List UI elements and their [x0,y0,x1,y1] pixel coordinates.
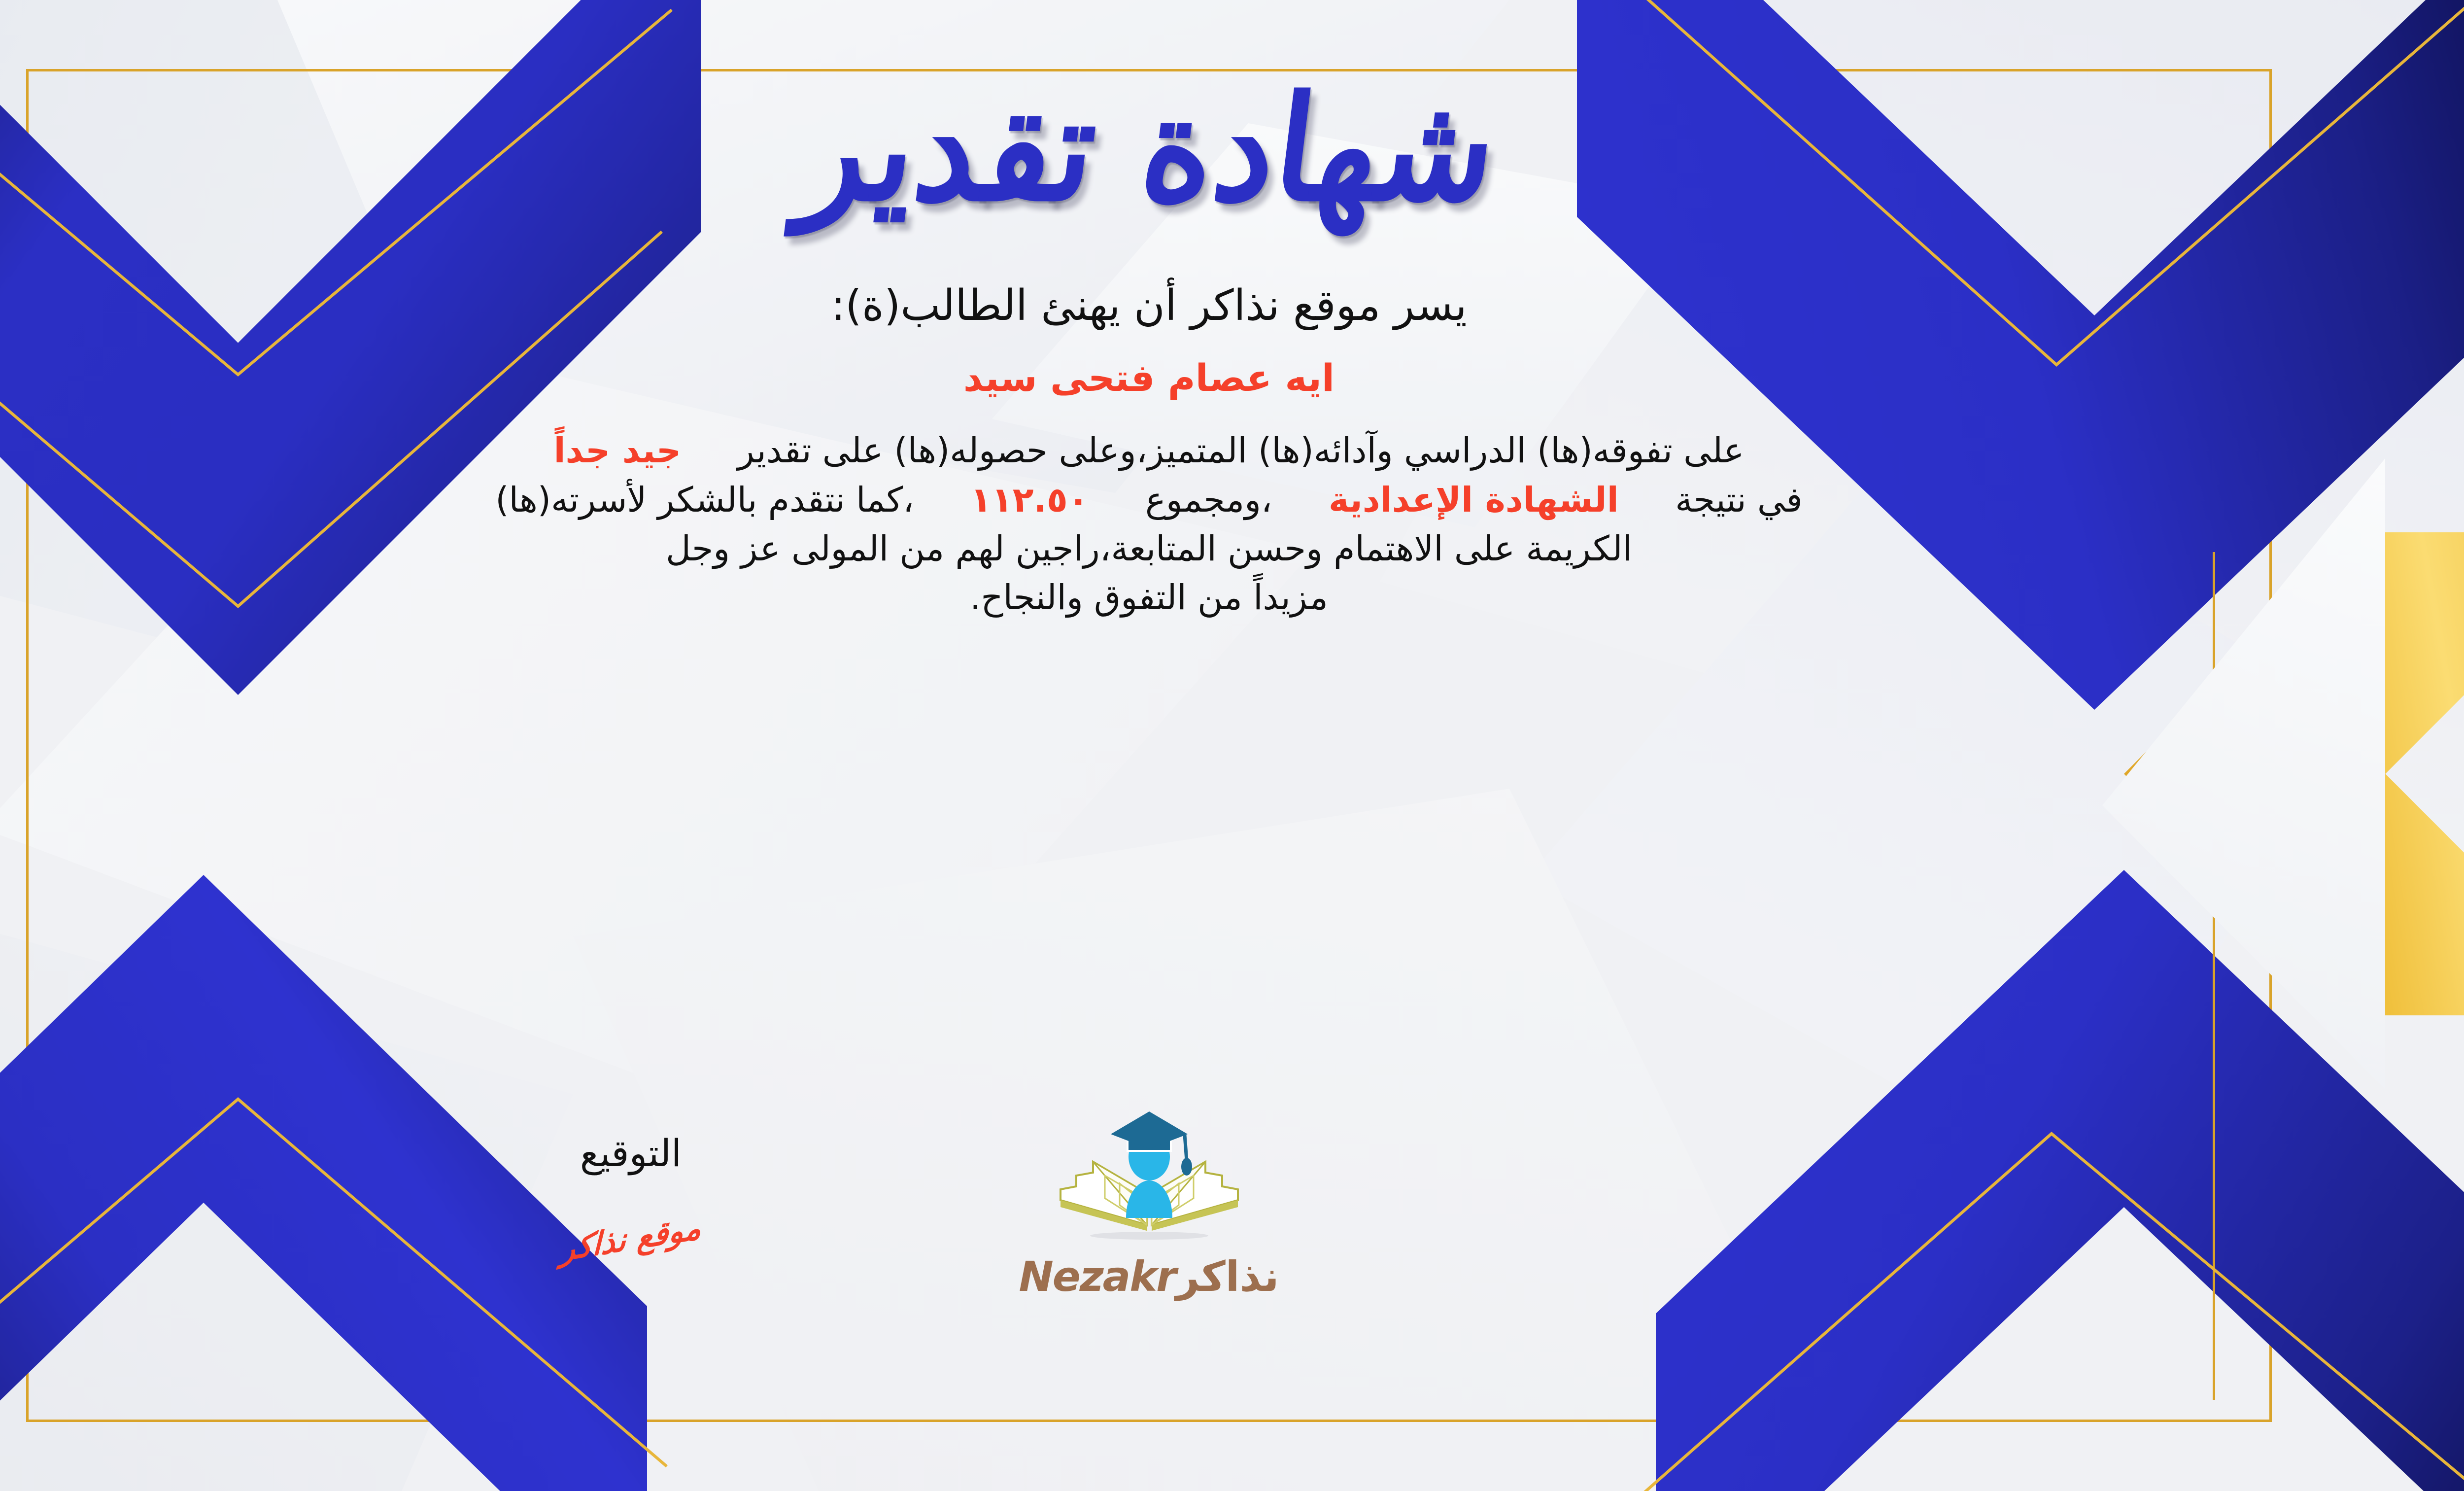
body-line-4: مزيداً من التفوق والنجاح. [58,573,2241,622]
body-line-1-text: على تفوقه(ها) الدراسي وآدائه(ها) المتميز… [738,430,1745,471]
lead-line: يسر موقع نذاكر أن يهنئ الطالب(ة): [831,281,1467,330]
body-line-1: على تفوقه(ها) الدراسي وآدائه(ها) المتميز… [58,426,2241,475]
body-line-2-prefix: في نتيجة [1675,480,1803,520]
signature-handwritten: موقع نذاكر [560,1209,701,1269]
logo-name-ar: نذاكر [1176,1252,1279,1301]
grade-value: جيد جداً [554,430,682,471]
certificate-footer: التوقيع موقع نذاكر [26,1047,2272,1422]
body-line-2: في نتيجة الشهادة الإعدادية ،ومجموع ١١٢.٥… [58,476,2241,524]
signature-block: التوقيع موقع نذاكر [458,1131,803,1257]
page-title: شهادة تقدير [793,71,1505,226]
graduate-book-icon [1046,1102,1253,1249]
site-logo: نذاكرNezakr [962,1102,1336,1301]
body-line-2-mid: ،ومجموع [1145,480,1272,520]
signature-label: التوقيع [458,1131,803,1175]
body-paragraph: على تفوقه(ها) الدراسي وآدائه(ها) المتميز… [58,426,2241,623]
exam-name: الشهادة الإعدادية [1329,480,1619,520]
body-line-2-suffix: ،كما نتقدم بالشكر لأسرته(ها) [495,480,914,520]
student-name: ايه عصام فتحى سيد [963,356,1335,400]
total-score: ١١٢.٥٠ [970,480,1089,520]
logo-name-en: Nezakr [1019,1252,1175,1301]
logo-wordmark: نذاكرNezakr [962,1252,1336,1301]
body-line-3: الكريمة على الاهتمام وحسن المتابعة،راجين… [58,524,2241,573]
certificate-body: شهادة تقدير يسر موقع نذاكر أن يهنئ الطال… [26,69,2272,1422]
certificate-canvas: شهادة تقدير يسر موقع نذاكر أن يهنئ الطال… [0,0,2464,1491]
